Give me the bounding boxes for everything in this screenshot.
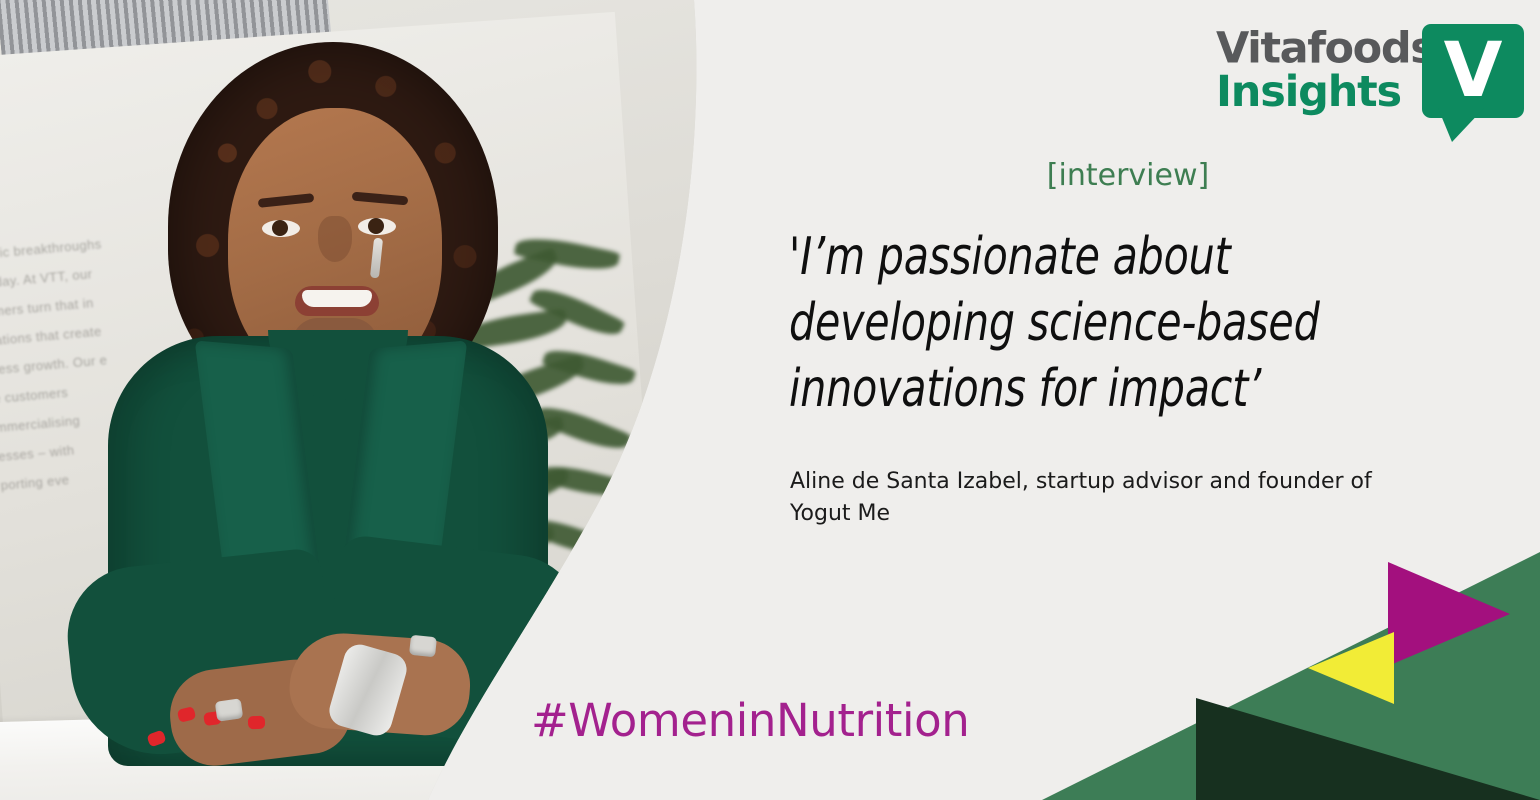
- campaign-hashtag: #WomeninNutrition: [531, 694, 969, 747]
- person-figure: [0, 0, 712, 800]
- nose: [318, 216, 352, 262]
- logo-mark-letter: V: [1422, 24, 1524, 118]
- kicker-label: [interview]: [790, 158, 1466, 193]
- fingernail: [248, 716, 265, 730]
- logo-wordmark: Vitafoods™ Insights: [1216, 22, 1416, 114]
- speech-bubble-icon: V: [1422, 24, 1524, 142]
- interview-promo-card: ntific breakthroughs g day. At VTT, our …: [0, 0, 1540, 800]
- iris-left: [272, 220, 288, 236]
- logo-line-vitafoods: Vitafoods™: [1216, 22, 1416, 70]
- ring: [409, 635, 437, 658]
- corner-decoration: [1000, 520, 1540, 800]
- logo-line-insights: Insights: [1216, 70, 1416, 114]
- iris-right: [368, 218, 384, 234]
- portrait-photo: ntific breakthroughs g day. At VTT, our …: [0, 0, 712, 800]
- portrait-photo-image: ntific breakthroughs g day. At VTT, our …: [0, 0, 712, 800]
- vitafoods-insights-logo[interactable]: Vitafoods™ Insights V: [1216, 22, 1526, 142]
- headline-quote: 'I’m passionate about developing science…: [789, 224, 1405, 422]
- teeth: [302, 290, 372, 307]
- ring: [215, 698, 244, 721]
- logo-text-vitafoods: Vitafoods: [1216, 23, 1434, 73]
